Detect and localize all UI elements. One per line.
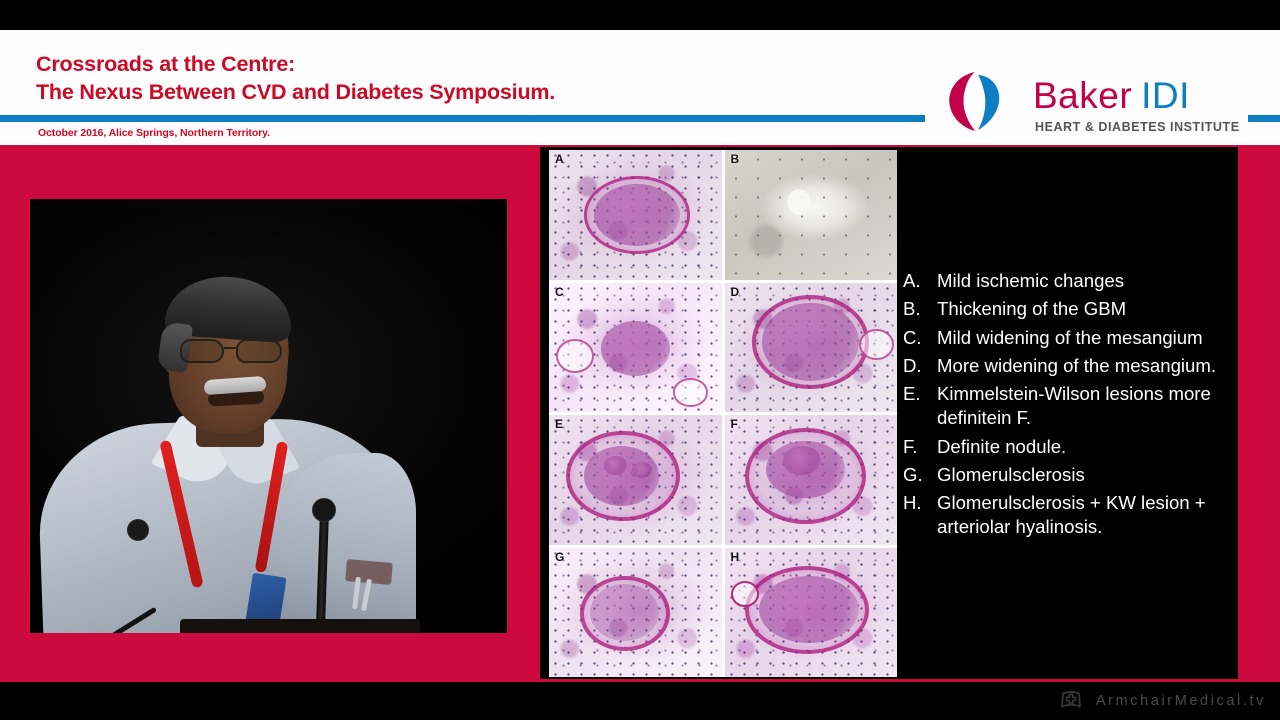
bullet-item-f: F. Definite nodule.: [903, 435, 1228, 459]
header-rule-left: [0, 115, 925, 122]
bullet-item-b: B. Thickening of the GBM: [903, 297, 1228, 321]
baker-idi-logo: BakerIDI HEART & DIABETES INSTITUTE: [945, 70, 1235, 150]
bullet-key-a: A.: [903, 269, 937, 293]
bullet-text-d: More widening of the mesangium.: [937, 354, 1228, 378]
kw-nodule-1: [604, 456, 626, 474]
baker-idi-heart-mark: [945, 70, 1025, 132]
bullet-item-a: A. Mild ischemic changes: [903, 269, 1228, 293]
bullet-item-e: E. Kimmelstein-Wilson lesions more defin…: [903, 382, 1228, 430]
micrograph-grid: A B C D: [549, 150, 897, 677]
bullet-text-h: Glomerulsclerosis + KW lesion + arteriol…: [937, 491, 1228, 539]
micrograph-label-h: H: [731, 550, 740, 564]
hyalinized-arteriole: [731, 581, 759, 607]
micrograph-panel-e: E: [549, 415, 722, 545]
bullet-text-c: Mild widening of the mesangium: [937, 326, 1228, 350]
tubule-1: [556, 339, 594, 373]
bullet-item-d: D. More widening of the mesangium.: [903, 354, 1228, 378]
microphone-head-left: [128, 520, 148, 540]
micrograph-panel-b: B: [725, 150, 898, 280]
event-title-line-1: Crossroads at the Centre:: [36, 52, 295, 76]
micrograph-label-g: G: [555, 550, 564, 564]
event-title-line-2: The Nexus Between CVD and Diabetes Sympo…: [36, 78, 555, 106]
sclerosed-glomerulus: [590, 584, 659, 641]
bullet-key-d: D.: [903, 354, 937, 378]
glasses-lens-right: [236, 339, 282, 363]
micrograph-label-e: E: [555, 417, 563, 431]
slide-header-band: Crossroads at the Centre: The Nexus Betw…: [0, 30, 1280, 145]
bullet-key-e: E.: [903, 382, 937, 406]
glasses-lens-left: [180, 339, 224, 363]
micrograph-panel-c: C: [549, 283, 722, 413]
arteriole: [859, 329, 894, 360]
presentation-video-frame: Crossroads at the Centre: The Nexus Betw…: [0, 0, 1280, 720]
bullet-item-g: G. Glomerulsclerosis: [903, 463, 1228, 487]
presentation-slide: A B C D: [540, 147, 1238, 679]
micrograph-label-f: F: [731, 417, 738, 431]
watermark-text: ArmchairMedical.tv: [1096, 693, 1266, 709]
bullet-text-a: Mild ischemic changes: [937, 269, 1228, 293]
bullet-text-b: Thickening of the GBM: [937, 297, 1228, 321]
bullet-item-c: C. Mild widening of the mesangium: [903, 326, 1228, 350]
bullet-key-b: B.: [903, 297, 937, 321]
bullet-key-g: G.: [903, 463, 937, 487]
bullet-text-f: Definite nodule.: [937, 435, 1228, 459]
bullet-key-f: F.: [903, 435, 937, 459]
micrograph-label-a: A: [555, 152, 564, 166]
capillary-lumen: [787, 189, 811, 215]
micrograph-label-c: C: [555, 285, 564, 299]
bullet-key-h: H.: [903, 491, 937, 515]
bowman-capsule: [584, 176, 691, 254]
header-rule-right: [1248, 115, 1280, 122]
micrograph-panel-a: A: [549, 150, 722, 280]
bullet-text-e: Kimmelstein-Wilson lesions more definite…: [937, 382, 1228, 430]
micrograph-label-b: B: [731, 152, 740, 166]
top-letterbox: [0, 0, 1280, 30]
micrograph-panel-d: D: [725, 283, 898, 413]
watermark: ArmchairMedical.tv: [1058, 688, 1266, 714]
event-title: Crossroads at the Centre: The Nexus Betw…: [36, 50, 555, 106]
nurse-cap-cross-icon: [1058, 688, 1084, 714]
bowman-capsule: [752, 295, 869, 388]
event-date-location: October 2016, Alice Springs, Northern Te…: [38, 127, 270, 139]
micrograph-panel-f: F: [725, 415, 898, 545]
speaker-video[interactable]: [30, 199, 507, 633]
sclerosed-glomerulus: [759, 576, 859, 643]
definite-nodule: [783, 446, 821, 474]
bullet-item-h: H. Glomerulsclerosis + KW lesion + arter…: [903, 491, 1228, 539]
glomerulus-tuft: [601, 321, 670, 375]
logo-tagline: HEART & DIABETES INSTITUTE: [1035, 120, 1240, 134]
logo-wordmark: BakerIDI: [1033, 75, 1190, 117]
micrograph-label-d: D: [731, 285, 740, 299]
bullet-text-g: Glomerulsclerosis: [937, 463, 1228, 487]
logo-word-baker: Baker: [1033, 75, 1132, 116]
slide-bullet-list: A. Mild ischemic changes B. Thickening o…: [903, 269, 1228, 543]
microphone-head-right: [313, 499, 335, 521]
micrograph-panel-g: G: [549, 548, 722, 678]
micrograph-panel-h: H: [725, 548, 898, 678]
speaker-glasses-icon: [180, 339, 284, 365]
bullet-key-c: C.: [903, 326, 937, 350]
logo-word-idi: IDI: [1141, 75, 1190, 116]
tubule-2: [673, 378, 708, 406]
tissue-speckle: [725, 150, 898, 280]
podium: [180, 619, 420, 633]
